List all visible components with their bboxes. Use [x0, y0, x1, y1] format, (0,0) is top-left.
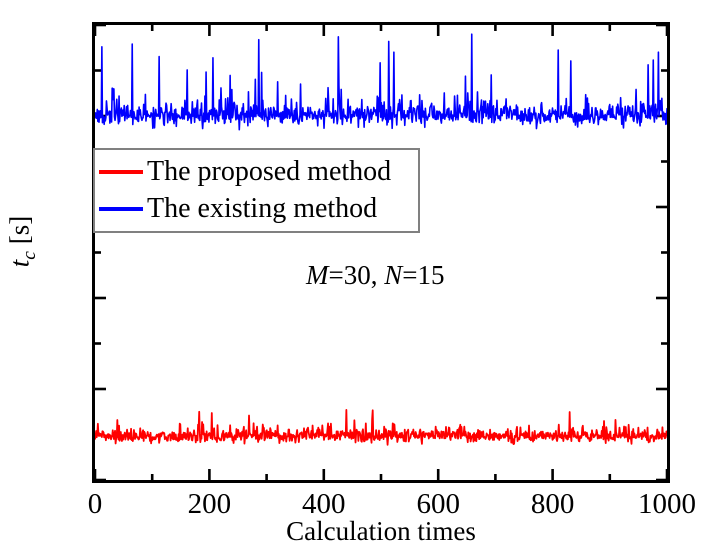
legend-item-proposed: The proposed method [99, 153, 412, 191]
plot-svg [95, 25, 667, 480]
legend-label-existing: The existing method [147, 195, 377, 223]
x-tick-label: 400 [302, 490, 346, 519]
y-axis-label-var: t [5, 260, 35, 268]
x-tick-label: 600 [416, 490, 460, 519]
y-axis-label-subscript: c [19, 251, 40, 260]
plot-area [92, 22, 670, 483]
y-axis-label: tc [s] [7, 162, 34, 322]
annotation-var-n: N [384, 260, 402, 290]
legend-swatch-proposed [99, 170, 143, 174]
legend-box: The proposed method The existing method [93, 148, 420, 233]
x-tick-label: 0 [88, 490, 103, 519]
plot-annotation: M=30, N=15 [306, 262, 444, 289]
legend-item-existing: The existing method [99, 191, 412, 229]
x-tick-label: 200 [188, 490, 232, 519]
annotation-var-m: M [306, 260, 329, 290]
annotation-val-m: =30, [329, 260, 385, 290]
legend-label-proposed: The proposed method [147, 158, 391, 186]
series-line-existing [95, 34, 667, 130]
annotation-val-n: =15 [402, 260, 444, 290]
chart-figure: 00.20.40.60.81.0 02004006008001000 Calcu… [0, 0, 716, 548]
series-line-proposed [95, 410, 667, 445]
x-axis-label: Calculation times [92, 518, 670, 545]
legend-swatch-existing [99, 207, 143, 211]
x-tick-label: 800 [531, 490, 575, 519]
y-axis-label-unit: [s] [5, 216, 35, 251]
x-tick-label: 1000 [638, 490, 696, 519]
